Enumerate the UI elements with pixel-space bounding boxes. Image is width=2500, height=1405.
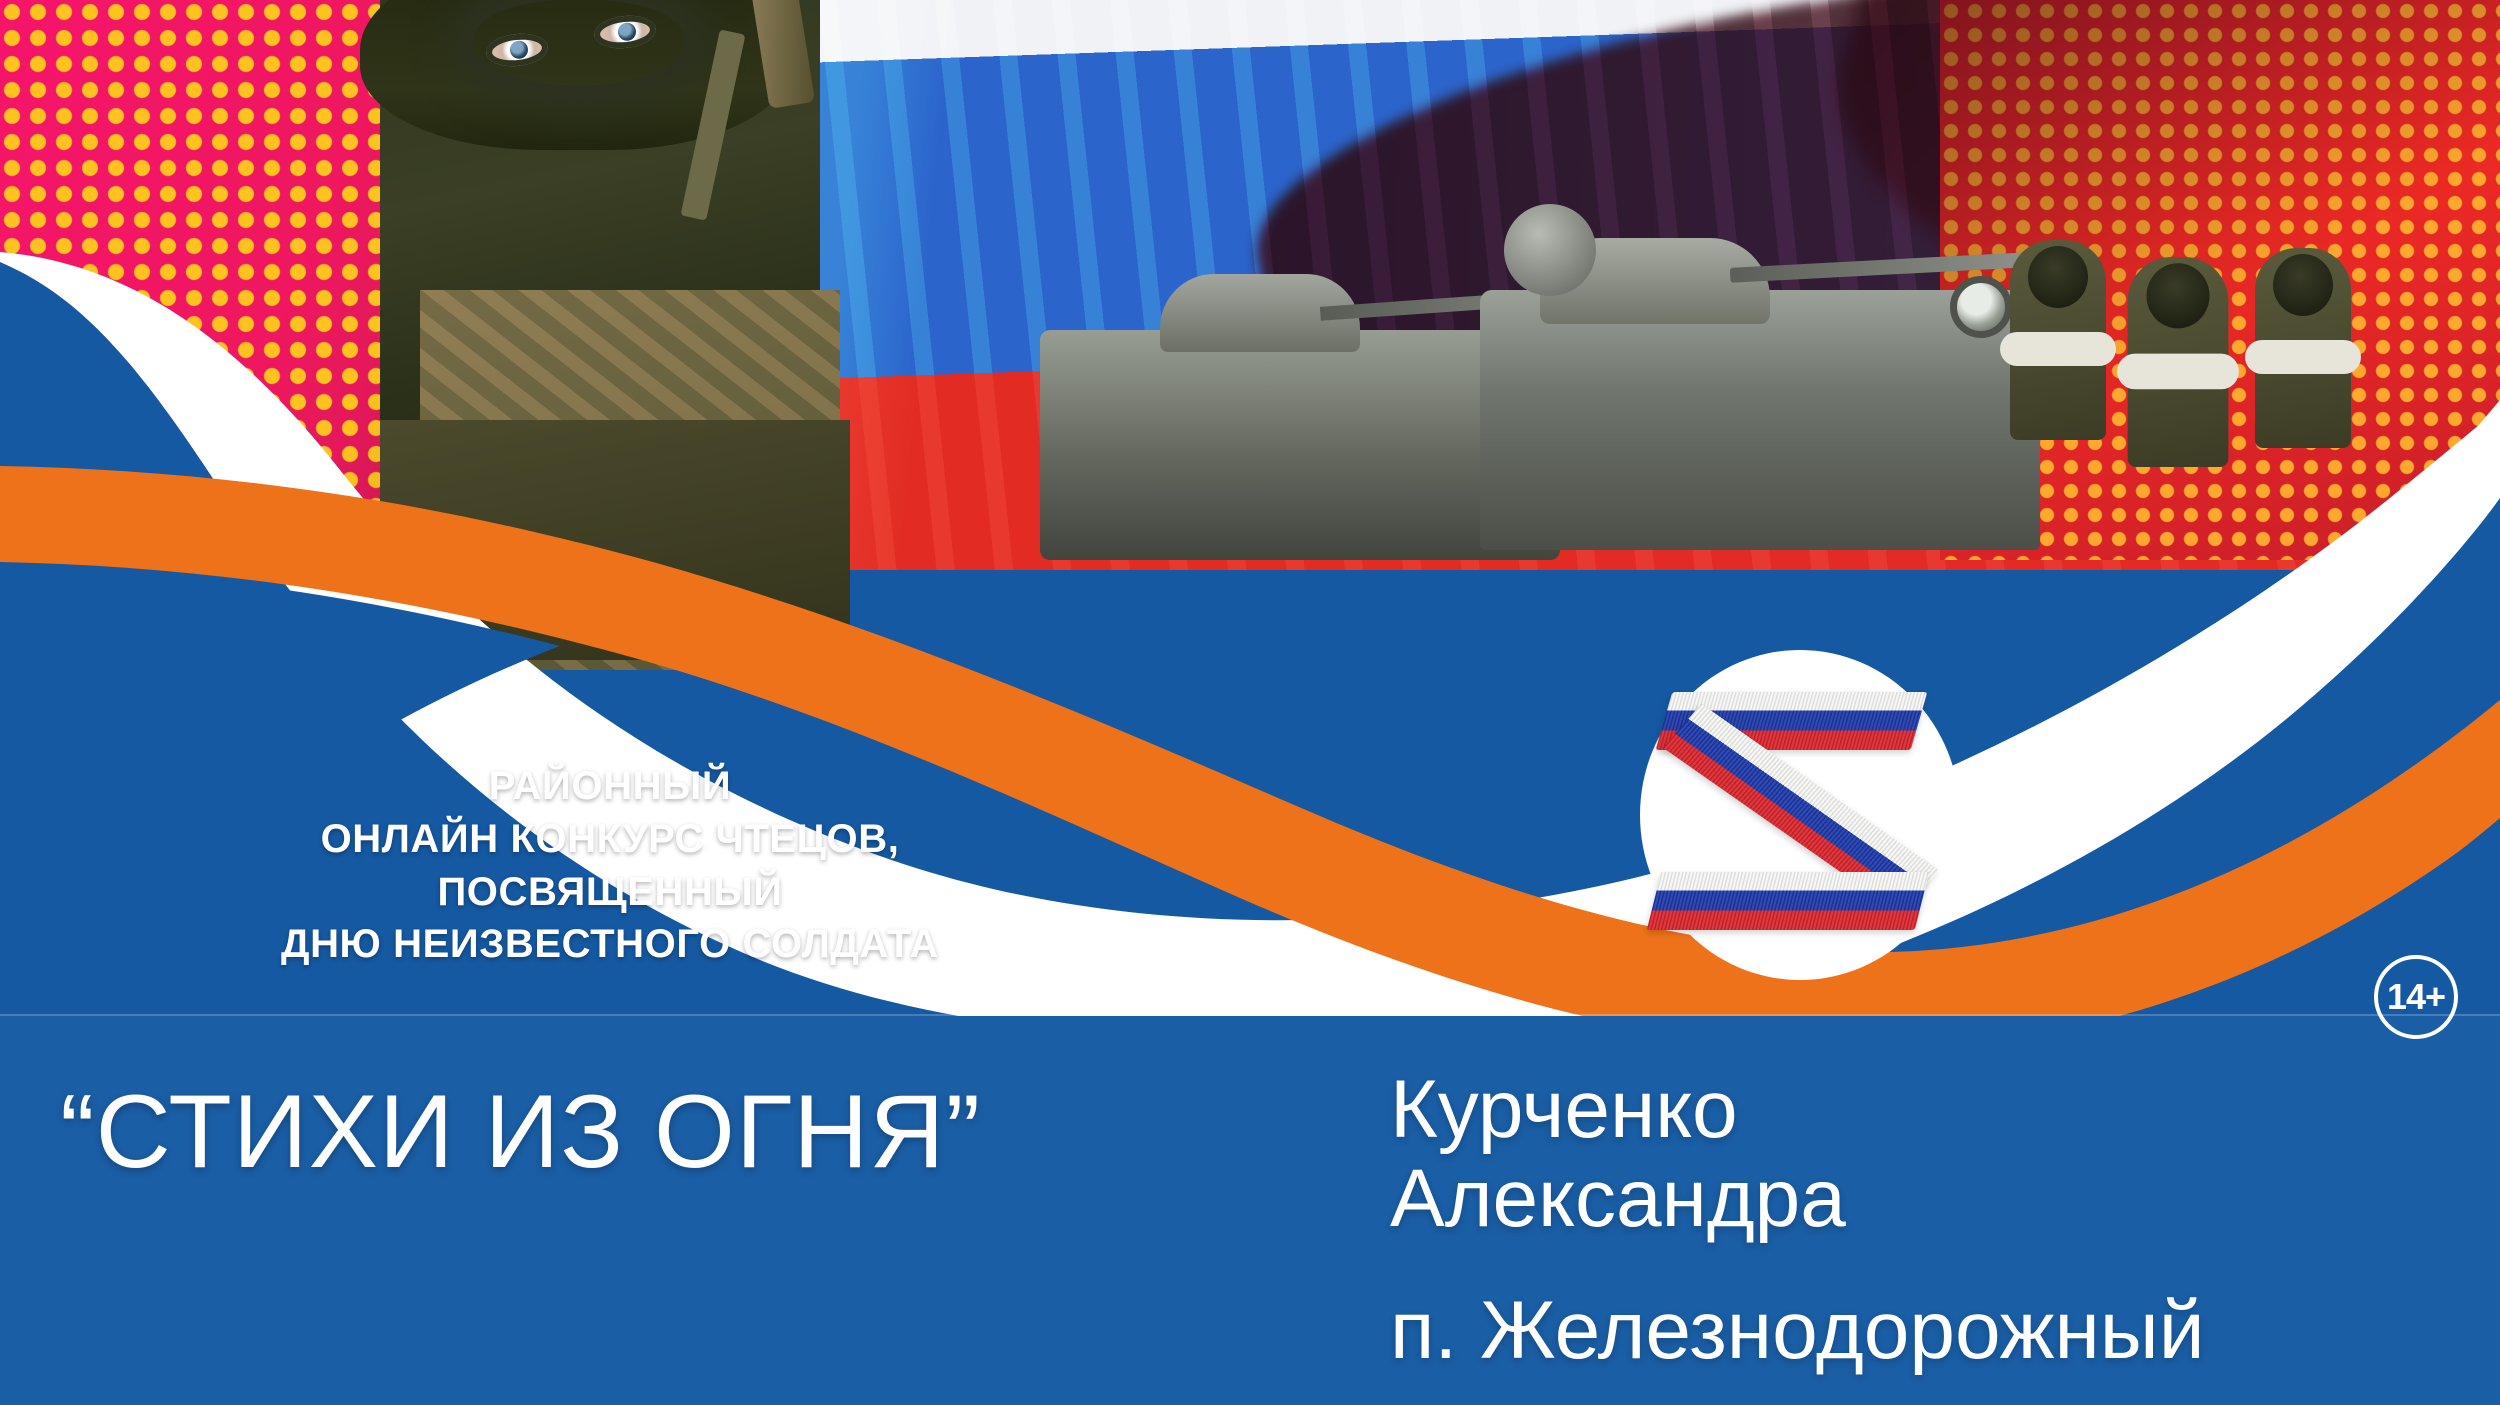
subtitle-line-1: РАЙОННЫЙ <box>0 760 1220 813</box>
subtitle-line-2: ОНЛАЙН КОНКУРС ЧТЕЦОВ, <box>0 813 1220 866</box>
performer-place: п. Железнодорожный <box>1390 1287 2490 1376</box>
performer-block: Курченко Александра п. Железнодорожный <box>1390 1066 2490 1376</box>
subtitle-line-3: ПОСВЯЩЕННЫЙ <box>0 866 1220 919</box>
performer-surname: Курченко <box>1390 1064 1738 1155</box>
page-title: “СТИХИ ИЗ ОГНЯ” <box>60 1080 981 1184</box>
subtitle-line-4: ДНЮ НЕИЗВЕСТНОГО СОЛДАТА <box>0 918 1220 971</box>
age-rating-badge: 14+ <box>2374 955 2458 1039</box>
z-ribbon-tricolor-icon <box>1640 650 1960 980</box>
poster-canvas: РАЙОННЫЙ ОНЛАЙН КОНКУРС ЧТЕЦОВ, ПОСВЯЩЕН… <box>0 0 2500 1405</box>
performer-given-name: Александра <box>1390 1153 1846 1244</box>
event-subtitle: РАЙОННЫЙ ОНЛАЙН КОНКУРС ЧТЕЦОВ, ПОСВЯЩЕН… <box>0 760 1220 971</box>
z-ribbon-segment-bottom <box>1647 872 1929 930</box>
